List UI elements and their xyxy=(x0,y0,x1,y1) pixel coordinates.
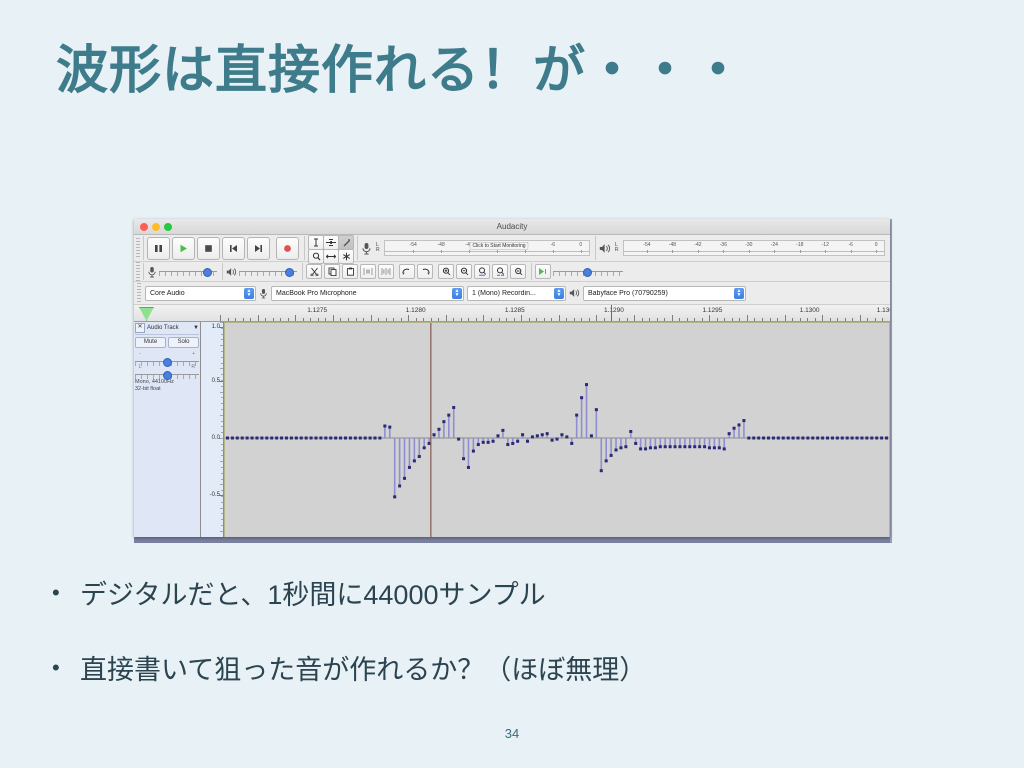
recording-channels-value: 1 (Mono) Recordin... xyxy=(472,290,554,297)
ruler-tick xyxy=(657,318,658,321)
zoom-in-button[interactable] xyxy=(438,264,454,279)
ruler-tick xyxy=(717,318,718,321)
ruler-tick xyxy=(453,318,454,321)
ruler-tick xyxy=(544,318,545,321)
solo-button[interactable]: Solo xyxy=(168,337,199,348)
zoom-out-button[interactable] xyxy=(456,264,472,279)
waveform-samples xyxy=(225,323,889,537)
skip-to-end-button[interactable] xyxy=(247,237,270,260)
ruler-tick xyxy=(220,315,221,321)
microphone-icon-small xyxy=(147,266,157,278)
record-button[interactable] xyxy=(276,237,299,260)
track-sample-format: 32-bit float xyxy=(135,386,199,393)
mute-button[interactable]: Mute xyxy=(135,337,166,348)
chevron-updown-icon: ▲▼ xyxy=(554,288,564,299)
ruler-tick xyxy=(228,318,229,321)
ruler-label: 1.1305 xyxy=(877,307,890,314)
edit-toolbar xyxy=(302,263,529,280)
speaker-icon xyxy=(599,243,611,254)
toolbar-grip-2[interactable] xyxy=(136,262,140,282)
recording-channels-select[interactable]: 1 (Mono) Recordin... ▲▼ xyxy=(467,286,566,301)
ruler-tick xyxy=(356,318,357,321)
ruler-tick xyxy=(762,318,763,321)
ruler-tick xyxy=(627,318,628,321)
ruler-tick xyxy=(514,318,515,321)
ruler-tick xyxy=(431,318,432,321)
bullet-list: • デジタルだと、1秒間に44000サンプル • 直接書いて狙った音が作れるか？… xyxy=(52,578,952,728)
ruler-tick xyxy=(468,318,469,321)
ruler-tick xyxy=(536,318,537,321)
device-toolbar: Core Audio ▲▼ MacBook Pro Microphone ▲▼ … xyxy=(134,282,890,305)
bullet-text: デジタルだと、1秒間に44000サンプル xyxy=(80,578,546,613)
pan-slider[interactable]: L R xyxy=(135,364,199,377)
ruler-tick xyxy=(310,318,311,321)
window-title: Audacity xyxy=(134,222,890,231)
ruler-tick xyxy=(325,318,326,321)
ruler-tick xyxy=(295,315,296,321)
fit-selection-button[interactable] xyxy=(474,264,490,279)
ruler-label: 1.1280 xyxy=(406,307,426,314)
ruler-tick xyxy=(499,318,500,321)
ruler-label: 1.1300 xyxy=(800,307,820,314)
ruler-tick xyxy=(235,318,236,321)
recording-volume-slider[interactable] xyxy=(159,265,217,278)
ruler-tick xyxy=(581,318,582,321)
paste-button[interactable] xyxy=(342,264,358,279)
draw-tool-button[interactable] xyxy=(338,235,354,250)
page-title: 波形は直接作れる！が・・・ xyxy=(56,28,745,103)
ruler-tick xyxy=(476,318,477,321)
zoom-tool-button[interactable] xyxy=(308,249,324,264)
ruler-tick xyxy=(882,318,883,321)
ruler-tick xyxy=(739,318,740,321)
ruler-tick xyxy=(815,318,816,321)
ruler-tick xyxy=(649,318,650,321)
vertical-ruler[interactable]: 1.00.50.0-0.5-1.0 xyxy=(201,322,224,537)
audio-host-select[interactable]: Core Audio ▲▼ xyxy=(145,286,256,301)
ruler-tick xyxy=(348,318,349,321)
list-item: • デジタルだと、1秒間に44000サンプル xyxy=(52,578,952,613)
ruler-tick xyxy=(559,315,560,321)
play-at-speed-button[interactable] xyxy=(535,264,551,279)
ruler-tick xyxy=(258,315,259,321)
recording-volume-toolbar xyxy=(143,263,220,280)
chevron-down-icon[interactable]: ▼ xyxy=(193,325,199,331)
ruler-tick xyxy=(777,318,778,321)
meter-tick-label: -36 xyxy=(720,242,727,248)
ruler-tick xyxy=(446,315,447,321)
ruler-label: 1.1290 xyxy=(604,307,624,314)
ruler-tick xyxy=(852,318,853,321)
track-header: ✕ Audio Track ▼ xyxy=(135,323,199,335)
ruler-tick xyxy=(732,318,733,321)
start-monitoring-label[interactable]: Click to Start Monitoring xyxy=(469,242,528,250)
meter-tick-label: -30 xyxy=(745,242,752,248)
ruler-label: 1.1295 xyxy=(702,307,722,314)
ruler-tick xyxy=(265,318,266,321)
ruler-tick xyxy=(318,318,319,321)
gain-slider[interactable]: - + xyxy=(135,351,199,364)
playback-meter-channels: LR xyxy=(615,243,619,253)
ruler-tick xyxy=(371,315,372,321)
ruler-label: 1.1275 xyxy=(307,307,327,314)
ruler-tick xyxy=(333,315,334,321)
recording-meter[interactable]: -54-48-42-18-12-60Click to Start Monitor… xyxy=(384,240,590,256)
toolbar-grip[interactable] xyxy=(136,238,140,258)
chevron-updown-icon: ▲▼ xyxy=(244,288,254,299)
meter-tick-label: -18 xyxy=(796,242,803,248)
cut-button[interactable] xyxy=(306,264,322,279)
ruler-tick xyxy=(408,315,409,321)
ruler-tick xyxy=(619,318,620,321)
ruler-tick xyxy=(521,315,522,321)
ruler-tick xyxy=(250,318,251,321)
toolbar-row-primary: LR -54-48-42-18-12-60Click to Start Moni… xyxy=(134,235,890,262)
meter-tick-label: -6 xyxy=(551,242,555,248)
recording-meter-channels: LR xyxy=(376,243,380,253)
list-item: • 直接書いて狙った音が作れるか？（ほぼ無理） xyxy=(52,653,952,688)
meter-tick-label: -12 xyxy=(822,242,829,248)
recording-meter-toolbar[interactable]: LR -54-48-42-18-12-60Click to Start Moni… xyxy=(357,236,593,260)
ruler-label: 1.1285 xyxy=(505,307,525,314)
ruler-tick xyxy=(679,318,680,321)
ruler-tick xyxy=(461,318,462,321)
ruler-tick xyxy=(303,318,304,321)
ruler-tick xyxy=(506,318,507,321)
playback-device-select[interactable]: Babyface Pro (70790259) ▲▼ xyxy=(583,286,746,301)
bullet-marker: • xyxy=(52,578,80,608)
multi-tool-button[interactable] xyxy=(338,249,354,264)
ruler-tick xyxy=(845,318,846,321)
redo-button[interactable] xyxy=(417,264,433,279)
trim-audio-button[interactable] xyxy=(360,264,376,279)
playback-meter[interactable]: -54-48-42-36-30-24-18-12-60 xyxy=(623,240,885,256)
ruler-tick xyxy=(378,318,379,321)
ruler-tick xyxy=(491,318,492,321)
meter-tick-label: -6 xyxy=(848,242,852,248)
microphone-icon xyxy=(361,242,372,255)
transport-toolbar xyxy=(143,236,302,260)
ruler-tick xyxy=(860,315,861,321)
ruler-tick xyxy=(574,318,575,321)
ruler-tick xyxy=(423,318,424,321)
ruler-tick xyxy=(340,318,341,321)
ruler-tick xyxy=(664,318,665,321)
meter-tick-label: -48 xyxy=(669,242,676,248)
ruler-tick xyxy=(754,318,755,321)
meter-tick-label: 0 xyxy=(875,242,878,248)
copy-button[interactable] xyxy=(324,264,340,279)
microphone-icon-device xyxy=(259,288,268,299)
toolbar-grip-3[interactable] xyxy=(137,283,141,303)
meter-tick-label: -42 xyxy=(694,242,701,248)
ruler-tick xyxy=(785,315,786,321)
ruler-tick xyxy=(386,318,387,321)
playback-volume-slider[interactable] xyxy=(239,265,297,278)
stop-button[interactable] xyxy=(197,237,220,260)
ruler-tick xyxy=(596,315,597,321)
page-number: 34 xyxy=(0,726,1024,741)
ruler-tick xyxy=(709,315,710,321)
ruler-tick xyxy=(363,318,364,321)
close-track-button[interactable]: ✕ xyxy=(135,323,145,333)
toolbar-row-secondary xyxy=(134,262,890,282)
fit-project-button[interactable] xyxy=(492,264,508,279)
ruler-tick xyxy=(672,315,673,321)
ruler-tick xyxy=(867,318,868,321)
ruler-tick xyxy=(694,318,695,321)
track-area: ✕ Audio Track ▼ Mute Solo - + L xyxy=(134,322,890,537)
ruler-cursor-line xyxy=(611,305,612,321)
ruler-tick xyxy=(830,318,831,321)
silence-audio-button[interactable] xyxy=(378,264,394,279)
ruler-tick xyxy=(280,318,281,321)
ruler-tick xyxy=(747,315,748,321)
ruler-tick xyxy=(529,318,530,321)
pinned-play-head-icon[interactable] xyxy=(139,307,154,321)
ruler-tick xyxy=(724,318,725,321)
meter-tick-label: -48 xyxy=(438,242,445,248)
playback-volume-toolbar xyxy=(222,263,300,280)
bullet-text: 直接書いて狙った音が作れるか？（ほぼ無理） xyxy=(80,653,646,688)
skip-to-start-button[interactable] xyxy=(222,237,245,260)
ruler-tick xyxy=(822,315,823,321)
bullet-marker: • xyxy=(52,653,80,683)
ruler-tick xyxy=(800,318,801,321)
speaker-icon-device xyxy=(569,288,580,298)
ruler-tick xyxy=(483,315,484,321)
timeline-ruler[interactable]: 1.12751.12801.12851.12901.12951.13001.13… xyxy=(134,305,890,322)
chevron-updown-icon: ▲▼ xyxy=(452,288,462,299)
waveform-display[interactable] xyxy=(224,322,890,537)
meter-tick-label: 0 xyxy=(579,242,582,248)
track-control-panel: ✕ Audio Track ▼ Mute Solo - + L xyxy=(134,322,201,537)
playback-meter-toolbar[interactable]: LR -54-48-42-36-30-24-18-12-60 xyxy=(595,236,888,260)
ruler-tick xyxy=(273,318,274,321)
ruler-tick xyxy=(438,318,439,321)
timeshift-tool-button[interactable] xyxy=(323,249,339,264)
ruler-tick xyxy=(589,318,590,321)
ruler-tick xyxy=(393,318,394,321)
undo-button[interactable] xyxy=(399,264,415,279)
ruler-tick xyxy=(288,318,289,321)
track-title: Audio Track xyxy=(147,325,191,331)
recording-device-select[interactable]: MacBook Pro Microphone ▲▼ xyxy=(271,286,464,301)
ruler-tick xyxy=(634,315,635,321)
meter-tick-label: -54 xyxy=(643,242,650,248)
audio-host-value: Core Audio xyxy=(150,290,244,297)
chevron-updown-icon: ▲▼ xyxy=(734,288,744,299)
ruler-tick xyxy=(792,318,793,321)
recording-device-value: MacBook Pro Microphone xyxy=(276,290,452,297)
ruler-tick xyxy=(875,318,876,321)
ruler-tick xyxy=(770,318,771,321)
envelope-tool-button[interactable] xyxy=(323,235,339,250)
ruler-tick xyxy=(837,318,838,321)
playback-speed-slider[interactable] xyxy=(553,265,623,278)
ruler-tick xyxy=(702,318,703,321)
ruler-tick xyxy=(807,318,808,321)
meter-tick-label: -24 xyxy=(771,242,778,248)
ruler-tick xyxy=(566,318,567,321)
selection-tool-button[interactable] xyxy=(308,235,324,250)
meter-tick-label: -54 xyxy=(410,242,417,248)
ruler-tick xyxy=(687,318,688,321)
play-at-speed-toolbar xyxy=(531,263,626,280)
ruler-tick xyxy=(604,318,605,321)
ruler-tick xyxy=(401,318,402,321)
zoom-toggle-button[interactable] xyxy=(510,264,526,279)
ruler-tick xyxy=(551,318,552,321)
ruler-tick xyxy=(243,318,244,321)
audacity-window: Audacity xyxy=(134,219,890,537)
pause-button[interactable] xyxy=(147,237,170,260)
tools-toolbar xyxy=(304,236,355,260)
ruler-tick xyxy=(416,318,417,321)
window-titlebar: Audacity xyxy=(134,219,890,235)
play-button[interactable] xyxy=(172,237,195,260)
speaker-icon-small xyxy=(226,267,237,277)
ruler-tick xyxy=(642,318,643,321)
playback-device-value: Babyface Pro (70790259) xyxy=(588,290,734,297)
